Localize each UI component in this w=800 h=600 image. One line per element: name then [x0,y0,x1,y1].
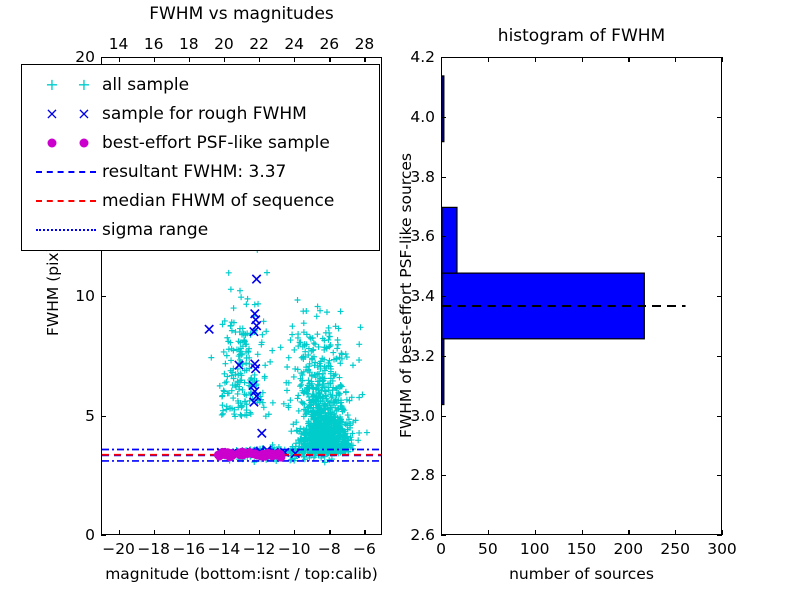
scatter-xticklabel: −10 [278,540,311,558]
histogram-bars-layer [442,58,721,534]
legend-item-label: all sample [102,75,189,95]
scatter-xtick-top-inner [224,57,225,62]
scatter-xtick-top-inner [329,57,330,62]
scatter-xtick [294,530,295,535]
legend-item-label: median FHWM of sequence [102,191,334,211]
histogram-ytick [441,535,446,536]
histogram-xtick [628,530,629,535]
scatter-xtick-top-inner [119,57,120,62]
histogram-ytick-right [717,236,722,237]
histogram-ytick-right [717,356,722,357]
histogram-ytick-right [717,177,722,178]
scatter-top-xticklabel: 22 [249,35,269,53]
scatter-ytick [101,535,106,536]
histogram-ytick [441,475,446,476]
histogram-ytick-right [717,296,722,297]
scatter-xtick-top-inner [259,57,260,62]
scatter-top-xticklabel: 20 [214,35,234,53]
dashdot-line-icon [36,229,96,231]
cross-icon: ×× [30,102,102,126]
histogram-ytick-right [717,475,722,476]
histogram-yticklabel: 4.0 [410,108,435,126]
right-panel-title: histogram of FWHM [498,26,665,46]
legend-item-label: resultant FWHM: 3.37 [102,162,286,182]
legend-item[interactable]: ××sample for rough FWHM [22,99,379,128]
histogram-xtick [582,530,583,535]
scatter-xaxis-label: magnitude (bottom:isnt / top:calib) [105,565,378,583]
scatter-xticklabel: −14 [208,540,241,558]
histogram-bar [442,339,444,405]
scatter-xticklabel: −8 [318,540,341,558]
histogram-yticklabel: 3.4 [410,287,435,305]
scatter-xtick-top-inner [294,57,295,62]
scatter-yaxis-label: FWHM (pix) [44,246,62,336]
scatter-ytick [101,57,106,58]
scatter-xtick [259,530,260,535]
scatter-top-xticklabel: 28 [355,35,375,53]
histogram-plot-area [442,58,721,534]
histogram-xticklabel: 50 [478,540,498,558]
histogram-xticklabel: 150 [567,540,597,558]
histogram-xtick [535,530,536,535]
histogram-xticklabel: 200 [614,540,644,558]
histogram-yticklabel: 2.8 [410,466,435,484]
histogram-xtick-top [535,57,536,62]
scatter-xtick [329,530,330,535]
legend-item-label: best-effort PSF-like sample [102,133,330,153]
scatter-xticklabel: −16 [172,540,205,558]
histogram-xtick-top [488,57,489,62]
dashed-line-icon [36,171,96,173]
histogram-xtick-top [722,57,723,62]
scatter-top-xticklabel: 18 [179,35,199,53]
left-panel-title: FWHM vs magnitudes [149,4,334,24]
histogram-ytick [441,117,446,118]
scatter-xtick [189,530,190,535]
histogram-yticklabel: 2.6 [410,526,435,544]
scatter-xtick [119,530,120,535]
scatter-xticklabel: −20 [102,540,135,558]
legend-item-label: sample for rough FWHM [102,104,307,124]
scatter-xtick [154,530,155,535]
histogram-ytick [441,57,446,58]
legend-item-label: sigma range [102,220,208,240]
scatter-xtick [364,530,365,535]
scatter-yticklabel: 0 [85,526,95,544]
scatter-top-xticklabel: 24 [284,35,304,53]
histogram-yticklabel: 3.0 [410,407,435,425]
scatter-xticklabel: −12 [243,540,276,558]
dot-icon [48,138,57,147]
histogram-ytick [441,296,446,297]
scatter-yticklabel: 5 [85,407,95,425]
histogram-axes [441,57,722,535]
legend-item[interactable]: sigma range [22,215,379,244]
legend-item[interactable]: ++all sample [22,70,379,99]
legend-box: ++all sample××sample for rough FWHMbest-… [21,64,380,251]
histogram-yticklabel: 3.2 [410,347,435,365]
plus-icon: + [77,77,90,93]
legend-item[interactable]: best-effort PSF-like sample [22,128,379,157]
scatter-top-xticklabel: 26 [319,35,339,53]
dashed-line-icon [36,200,96,202]
dot-icon [80,138,89,147]
figure-canvas: FWHM vs magnitudes magnitude (bottom:isn… [0,0,800,600]
scatter-xtick-top-inner [364,57,365,62]
histogram-xtick [488,530,489,535]
scatter-xticklabel: −6 [353,540,376,558]
scatter-ytick [101,416,106,417]
histogram-xtick-top [675,57,676,62]
histogram-yticklabel: 3.6 [410,227,435,245]
histogram-xtick [722,530,723,535]
dashdot-line-icon [30,218,102,242]
histogram-ytick-right [717,416,722,417]
plus-icon: ++ [30,73,102,97]
histogram-yticklabel: 3.8 [410,168,435,186]
histogram-bar [442,76,444,142]
histogram-xaxis-label: number of sources [509,565,654,583]
cross-icon: × [45,106,58,122]
histogram-xtick-top [582,57,583,62]
histogram-ytick-right [717,535,722,536]
histogram-xticklabel: 100 [520,540,550,558]
histogram-ytick-right [717,57,722,58]
plus-icon: + [45,77,58,93]
histogram-ytick [441,416,446,417]
histogram-xticklabel: 300 [707,540,737,558]
scatter-yticklabel: 10 [75,287,95,305]
scatter-top-xticklabel: 16 [144,35,164,53]
histogram-ytick [441,356,446,357]
legend-item[interactable]: median FHWM of sequence [22,186,379,215]
dashed-line-icon [30,189,102,213]
histogram-ytick-right [717,117,722,118]
histogram-ytick [441,177,446,178]
dot-icon [30,131,102,155]
histogram-bar [442,207,457,273]
histogram-xtick-top [628,57,629,62]
histogram-xticklabel: 250 [660,540,690,558]
scatter-xtick-top-inner [189,57,190,62]
cross-icon: × [77,106,90,122]
scatter-xtick-top-inner [154,57,155,62]
dashed-line-icon [30,160,102,184]
scatter-ytick [101,296,106,297]
histogram-yticklabel: 4.2 [410,48,435,66]
legend-item[interactable]: resultant FWHM: 3.37 [22,157,379,186]
scatter-top-xticklabel: 14 [109,35,129,53]
histogram-xticklabel: 0 [436,540,446,558]
scatter-xticklabel: −18 [137,540,170,558]
scatter-xtick [224,530,225,535]
histogram-xtick [675,530,676,535]
histogram-ytick [441,236,446,237]
